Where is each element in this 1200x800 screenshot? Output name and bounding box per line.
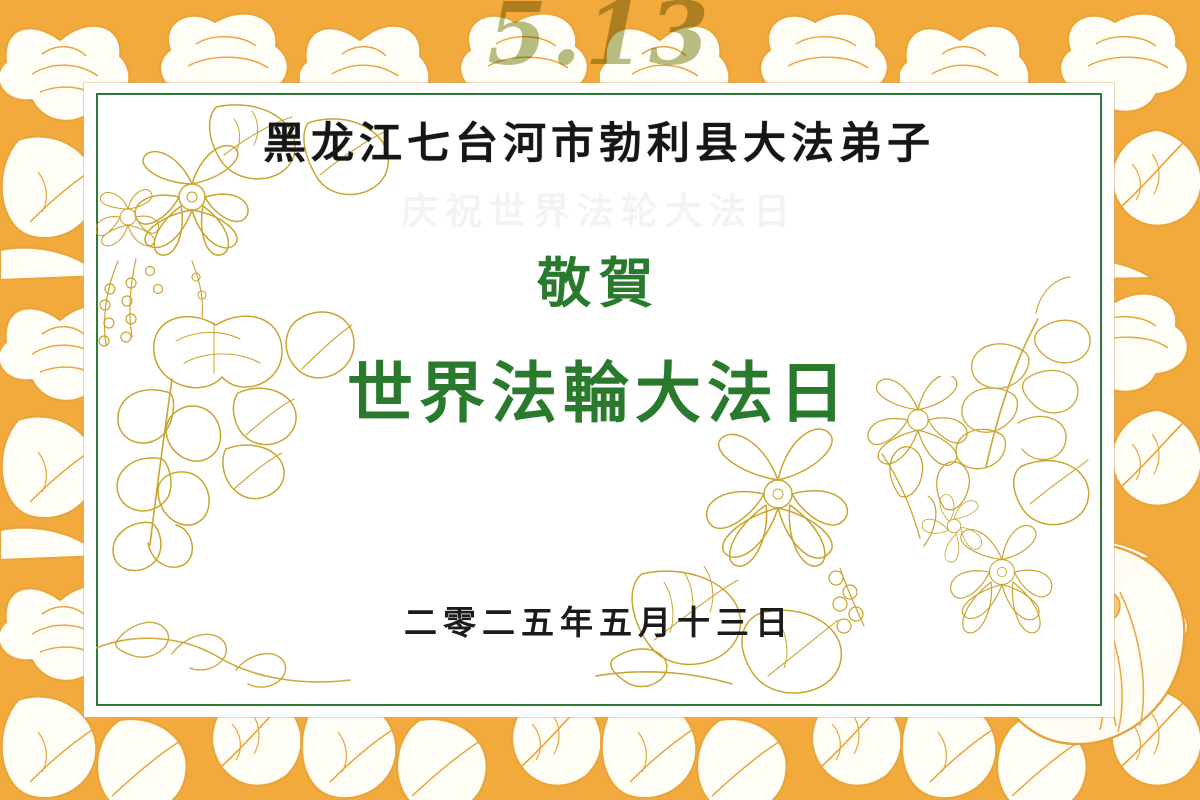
salutation-text: 敬賀 (537, 239, 661, 318)
date-text: 二零二五年五月十三日 (84, 596, 1114, 644)
greeting-headline: 黑龙江七台河市勃利县大法弟子 (263, 109, 935, 171)
poster-canvas: 5.13 (0, 0, 1200, 800)
card-text-block: 黑龙江七台河市勃利县大法弟子 敬賀 世界法輪大法日 庆祝世界法轮大法日 二零二五… (84, 83, 1114, 717)
faint-watermark-text: 庆祝世界法轮大法日 (84, 181, 1114, 235)
greeting-card: 黑龙江七台河市勃利县大法弟子 敬賀 世界法輪大法日 庆祝世界法轮大法日 二零二五… (84, 83, 1114, 717)
main-title-text: 世界法輪大法日 (347, 340, 851, 436)
